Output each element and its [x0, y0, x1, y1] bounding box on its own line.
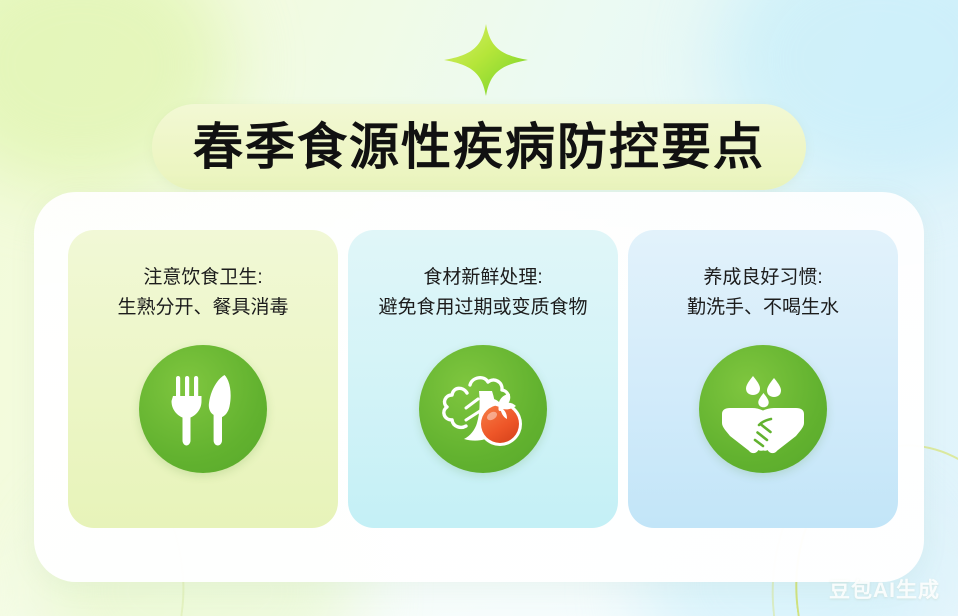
tip-card-text: 注意饮食卫生: 生熟分开、餐具消毒 [111, 263, 294, 323]
tip-card-fresh-ingredients[interactable]: 食材新鲜处理: 避免食用过期或变质食物 [348, 230, 618, 528]
tips-card-row: 注意饮食卫生: 生熟分开、餐具消毒 [68, 230, 898, 528]
page-title: 春季食源性疾病防控要点 [193, 122, 765, 172]
watermark: 豆包AI生成 [829, 574, 940, 604]
tip-icon-badge [139, 345, 267, 473]
tip-card-text: 食材新鲜处理: 避免食用过期或变质食物 [372, 263, 593, 323]
tip-card-text: 养成良好习惯: 勤洗手、不喝生水 [681, 263, 845, 323]
page-title-pill: 春季食源性疾病防控要点 [152, 104, 806, 190]
tip-detail: 生熟分开、餐具消毒 [117, 293, 288, 323]
infographic-poster: 春季食源性疾病防控要点 注意饮食卫生: 生熟分开、餐具消毒 [0, 0, 958, 616]
handwashing-icon [716, 362, 810, 456]
tip-detail: 避免食用过期或变质食物 [378, 293, 587, 323]
tip-heading: 注意饮食卫生: [117, 263, 288, 293]
tip-heading: 养成良好习惯: [687, 263, 839, 293]
tip-icon-badge [699, 345, 827, 473]
sparkle-icon [441, 22, 531, 98]
tip-card-hygiene[interactable]: 注意饮食卫生: 生熟分开、餐具消毒 [68, 230, 338, 528]
tip-heading: 食材新鲜处理: [378, 263, 587, 293]
fork-knife-icon [160, 366, 246, 452]
tip-icon-badge [419, 345, 547, 473]
tip-detail: 勤洗手、不喝生水 [687, 293, 839, 323]
vegetables-icon [437, 363, 529, 455]
tip-card-good-habits[interactable]: 养成良好习惯: 勤洗手、不喝生水 [628, 230, 898, 528]
